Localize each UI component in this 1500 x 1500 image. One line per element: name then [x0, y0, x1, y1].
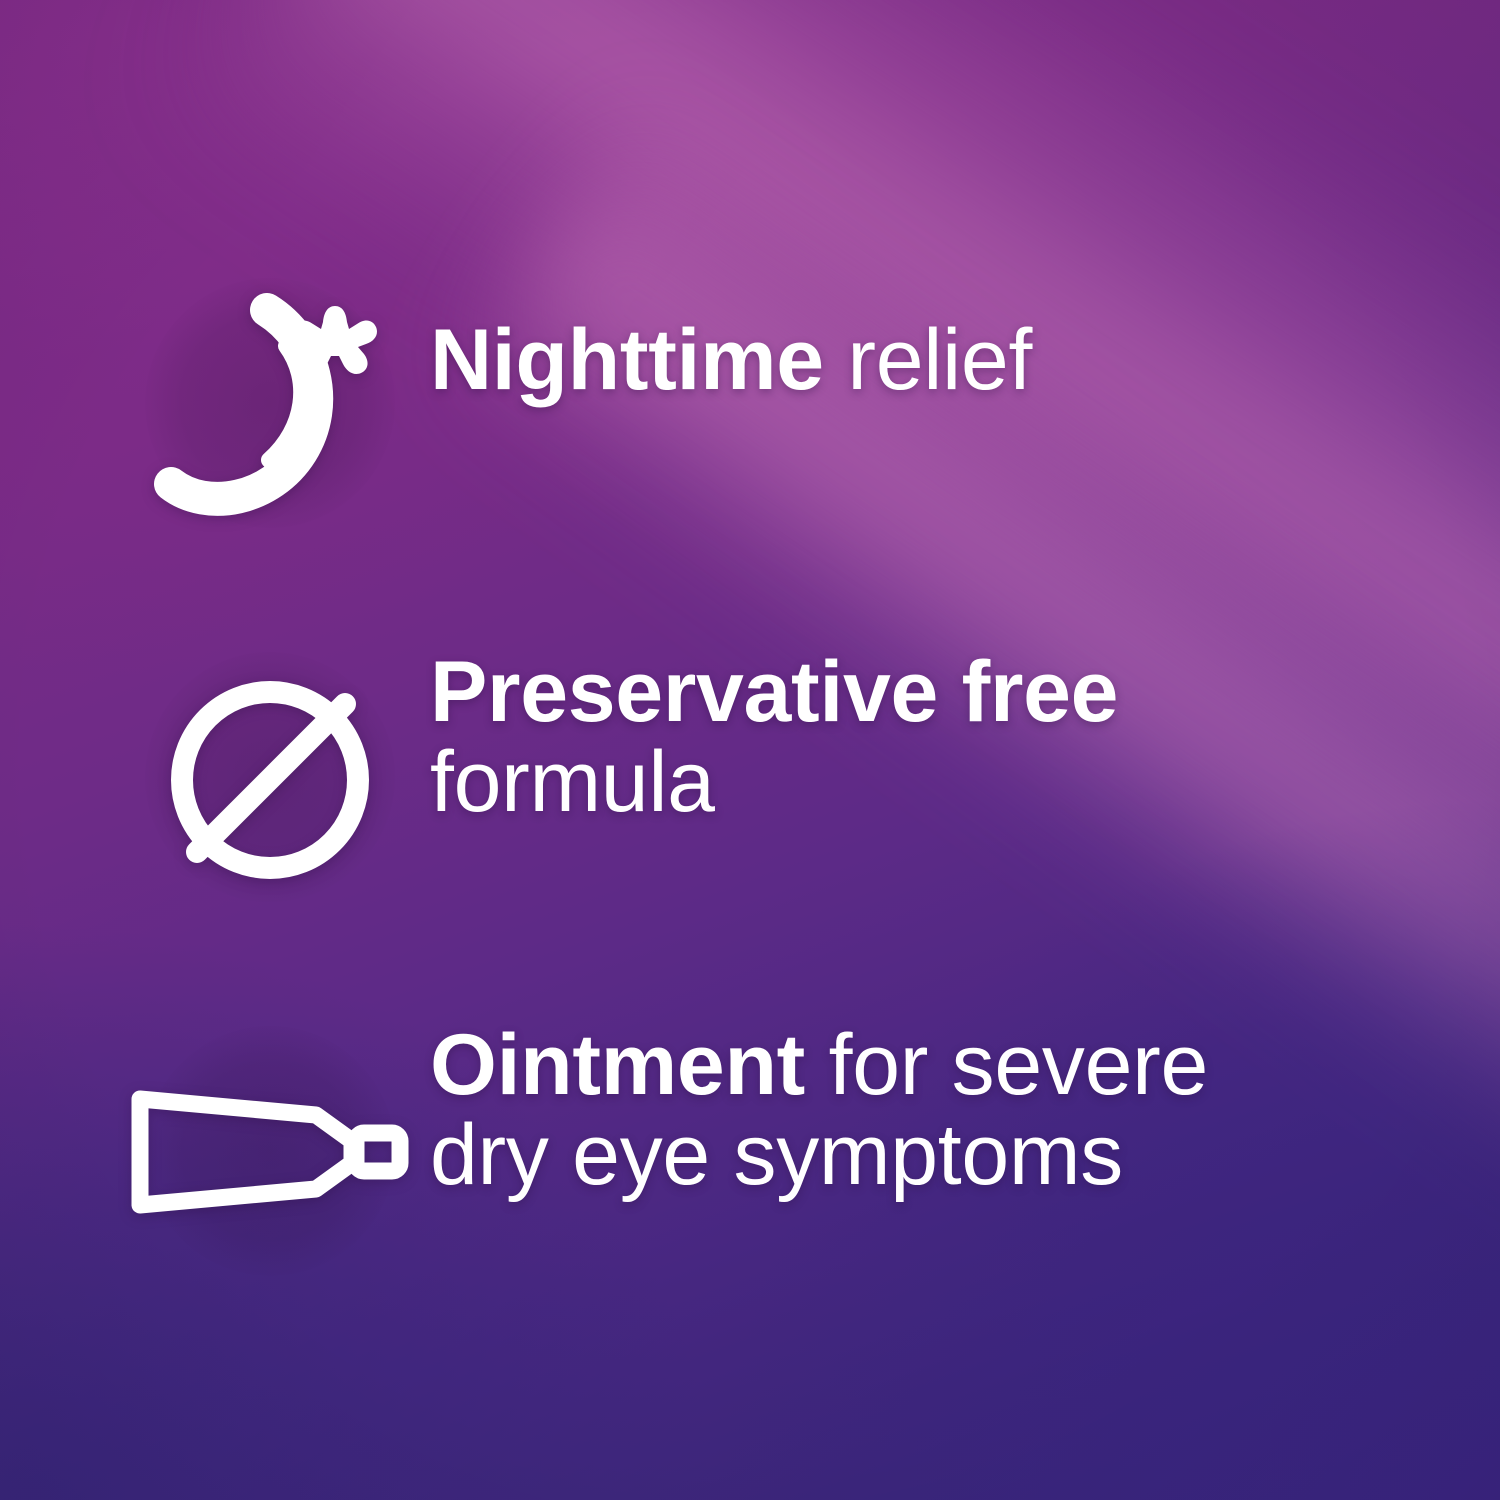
moon-star-icon [145, 288, 395, 518]
feature-text: Nighttime relief [430, 270, 1032, 405]
feature-line-2-rest: formula [430, 734, 715, 830]
feature-line-2-rest: dry eye symptoms [430, 1107, 1123, 1203]
ointment-tube-icon [120, 1071, 420, 1231]
feature-text: Ointment for severe dry eye symptoms [430, 1015, 1208, 1201]
feature-line-2: dry eye symptoms [430, 1110, 1208, 1201]
feature-line-1-rest: relief [824, 312, 1032, 408]
feature-line-1-bold: Ointment [430, 1017, 805, 1113]
feature-icon-container [110, 630, 430, 902]
feature-item-preservative-free: Preservative free formula [110, 630, 1118, 902]
feature-item-nighttime: Nighttime relief [110, 270, 1032, 518]
feature-line-2: formula [430, 737, 1118, 828]
marketing-graphic: Nighttime relief Preservative free formu… [0, 0, 1500, 1500]
feature-line-1-bold: Preservative free [430, 644, 1118, 740]
feature-text: Preservative free formula [430, 630, 1118, 828]
feature-list: Nighttime relief Preservative free formu… [0, 0, 1500, 1500]
feature-line-1-rest: for severe [805, 1017, 1208, 1113]
feature-item-ointment: Ointment for severe dry eye symptoms [110, 1015, 1208, 1231]
feature-line-1: Ointment for severe [430, 1021, 1208, 1110]
feature-line-1: Preservative free [430, 648, 1118, 737]
no-preservatives-icon [145, 652, 395, 902]
feature-line-1-bold: Nighttime [430, 312, 824, 408]
feature-icon-container [110, 1015, 430, 1231]
feature-line-1: Nighttime relief [430, 316, 1032, 405]
feature-icon-container [110, 270, 430, 518]
